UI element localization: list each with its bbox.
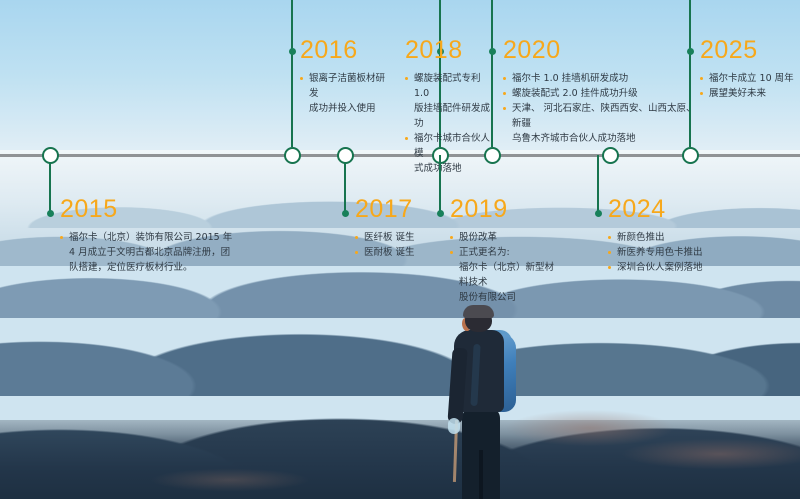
milestone-bullets-2018: 螺旋装配式专利 1.0 版挂墙配件研发成功 福尔卡城市合伙人模 式成功落地 xyxy=(405,71,497,176)
timeline-node-2020[interactable] xyxy=(484,147,501,164)
bullet: 福尔卡成立 10 周年 xyxy=(700,71,796,86)
milestone-bullets-2024: 新颜色推出 新医养专用色卡推出 深圳合伙人案例落地 xyxy=(608,230,728,275)
timeline-axis xyxy=(0,154,800,157)
timeline-stem-2025 xyxy=(689,0,691,147)
timeline-stem-dot-2025 xyxy=(687,48,694,55)
bullet: 螺旋装配式专利 1.0 版挂墙配件研发成功 xyxy=(405,71,497,131)
milestone-year-2016: 2016 xyxy=(300,38,388,63)
bullet: 福尔卡 1.0 挂墙机研发成功 xyxy=(503,71,703,86)
hiker-leg-gap xyxy=(479,450,483,499)
milestone-2015: 2015 福尔卡（北京）装饰有限公司 2015 年 4 月成立于文明古都北京品牌… xyxy=(60,197,240,275)
bullet: 新医养专用色卡推出 xyxy=(608,245,728,260)
milestone-year-2024: 2024 xyxy=(608,197,728,222)
timeline-stem-dot-2024 xyxy=(595,210,602,217)
timeline-stem-dot-2020 xyxy=(489,48,496,55)
timeline-stem-2024 xyxy=(597,155,599,213)
bullet: 展望美好未来 xyxy=(700,86,796,101)
timeline-stem-dot-2015 xyxy=(47,210,54,217)
bullet: 正式更名为: 福尔卡（北京）新型材料技术 股份有限公司 xyxy=(450,245,560,305)
timeline-stem-dot-2019 xyxy=(437,210,444,217)
milestone-2020: 2020 福尔卡 1.0 挂墙机研发成功 螺旋装配式 2.0 挂件成功升级 天津… xyxy=(503,38,703,146)
milestone-year-2017: 2017 xyxy=(355,197,445,222)
milestone-year-2019: 2019 xyxy=(450,197,560,222)
bullet: 股份改革 xyxy=(450,230,560,245)
bullet: 福尔卡（北京）装饰有限公司 2015 年 4 月成立于文明古都北京品牌注册，团 … xyxy=(60,230,240,275)
milestone-bullets-2020: 福尔卡 1.0 挂墙机研发成功 螺旋装配式 2.0 挂件成功升级 天津、 河北石… xyxy=(503,71,703,146)
timeline-infographic: 2015 福尔卡（北京）装饰有限公司 2015 年 4 月成立于文明古都北京品牌… xyxy=(0,0,800,499)
milestone-bullets-2025: 福尔卡成立 10 周年 展望美好未来 xyxy=(700,71,796,101)
hiker-figure xyxy=(432,300,552,499)
timeline-stem-dot-2017 xyxy=(342,210,349,217)
milestone-2025: 2025 福尔卡成立 10 周年 展望美好未来 xyxy=(700,38,796,101)
timeline-stem-2020 xyxy=(491,0,493,147)
bullet: 天津、 河北石家庄、陕西西安、山西太原、新疆 乌鲁木齐城市合伙人成功落地 xyxy=(503,101,703,146)
milestone-bullets-2015: 福尔卡（北京）装饰有限公司 2015 年 4 月成立于文明古都北京品牌注册，团 … xyxy=(60,230,240,275)
timeline-node-2016[interactable] xyxy=(284,147,301,164)
milestone-bullets-2017: 医纤板 诞生 医耐板 诞生 xyxy=(355,230,445,260)
timeline-node-2025[interactable] xyxy=(682,147,699,164)
milestone-year-2015: 2015 xyxy=(60,197,240,222)
milestone-year-2020: 2020 xyxy=(503,38,703,63)
milestone-2016: 2016 银离子洁菌板材研发 成功并投入使用 xyxy=(300,38,388,116)
timeline-node-2015[interactable] xyxy=(42,147,59,164)
milestone-bullets-2016: 银离子洁菌板材研发 成功并投入使用 xyxy=(300,71,388,116)
timeline-stem-2019 xyxy=(439,155,441,213)
hiker-beanie xyxy=(463,305,494,318)
bullet: 医耐板 诞生 xyxy=(355,245,445,260)
milestone-2017: 2017 医纤板 诞生 医耐板 诞生 xyxy=(355,197,445,260)
hiker-hand xyxy=(448,418,460,434)
timeline-node-2024[interactable] xyxy=(602,147,619,164)
bullet: 新颜色推出 xyxy=(608,230,728,245)
milestone-year-2025: 2025 xyxy=(700,38,796,63)
timeline-stem-dot-2016 xyxy=(289,48,296,55)
bullet: 医纤板 诞生 xyxy=(355,230,445,245)
milestone-year-2018: 2018 xyxy=(405,38,497,63)
bullet: 深圳合伙人案例落地 xyxy=(608,260,728,275)
milestone-2019: 2019 股份改革 正式更名为: 福尔卡（北京）新型材料技术 股份有限公司 xyxy=(450,197,560,305)
sunlit-slope-left xyxy=(120,462,360,499)
bullet: 螺旋装配式 2.0 挂件成功升级 xyxy=(503,86,703,101)
bullet: 银离子洁菌板材研发 成功并投入使用 xyxy=(300,71,388,116)
timeline-stem-2016 xyxy=(291,0,293,147)
milestone-2024: 2024 新颜色推出 新医养专用色卡推出 深圳合伙人案例落地 xyxy=(608,197,728,275)
milestone-bullets-2019: 股份改革 正式更名为: 福尔卡（北京）新型材料技术 股份有限公司 xyxy=(450,230,560,305)
timeline-node-2017[interactable] xyxy=(337,147,354,164)
